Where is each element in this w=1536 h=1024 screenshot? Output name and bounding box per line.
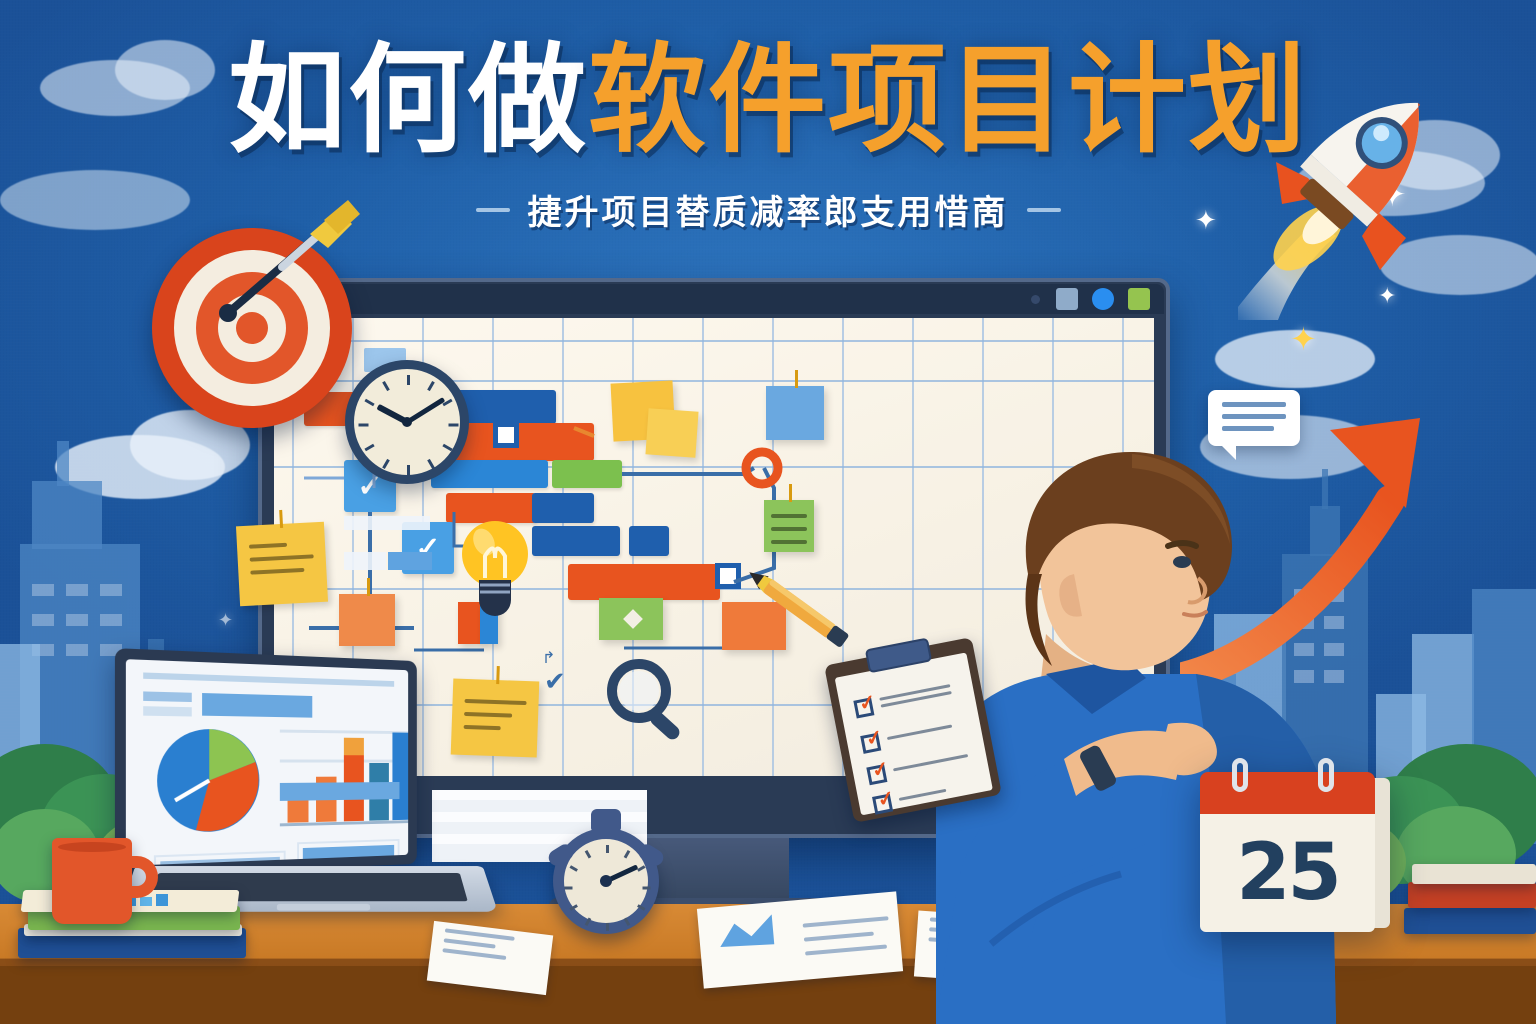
small-check-icon: ✔ — [544, 666, 566, 697]
check-mark-icon: ✓ — [857, 692, 877, 715]
book-right-red — [1408, 882, 1536, 908]
window-title-bar — [264, 284, 1164, 314]
calendar-icon: 25 — [1200, 758, 1390, 933]
check-mark-icon: ✓ — [864, 727, 884, 750]
pin-icon — [795, 370, 798, 388]
checkbox-icon[interactable]: ✓ — [853, 697, 874, 718]
sticky-note-orange[interactable] — [339, 594, 395, 646]
gantt-bar[interactable] — [532, 493, 594, 523]
checkbox-icon[interactable]: ✓ — [860, 733, 881, 754]
gantt-bar[interactable] — [552, 460, 622, 488]
lightbulb-icon — [455, 512, 535, 627]
checklist-item[interactable]: ✓ — [860, 719, 954, 754]
clipboard-paper: ✓ ✓ ✓ ✓ — [835, 652, 993, 815]
subtitle-dash-right — [1027, 208, 1061, 212]
coffee-mug-icon — [52, 838, 132, 924]
note-lines — [771, 514, 807, 553]
pin-icon — [496, 666, 500, 684]
small-arrow-icon: ↱ — [542, 648, 555, 668]
checklist-text — [899, 788, 947, 804]
magnifying-glass-icon[interactable] — [599, 653, 695, 749]
checkbox-icon[interactable]: ✓ — [866, 764, 887, 785]
checklist-item[interactable]: ✓ — [853, 682, 953, 718]
stopwatch-crown — [591, 809, 621, 831]
rocket-icon — [1238, 70, 1468, 320]
pin-icon — [367, 578, 370, 596]
title-orange-part: 软件项目计划 — [588, 31, 1308, 169]
sticky-note-yellow[interactable] — [236, 522, 328, 606]
sticky-note-orange[interactable] — [722, 602, 786, 650]
sticky-note-yellow[interactable] — [645, 408, 698, 457]
sticky-note-green[interactable] — [764, 500, 814, 552]
calendar-body: 25 — [1200, 814, 1375, 932]
dim-dot-icon — [1031, 295, 1040, 304]
ui-bar-decoration — [344, 516, 430, 530]
calendar-header — [1200, 772, 1375, 816]
laptop-dashboard-screen[interactable] — [126, 659, 408, 866]
title-white-part: 如何做 — [228, 31, 588, 169]
calendar-ring-icon — [1318, 758, 1334, 792]
note-lines — [249, 542, 314, 584]
checklist-text — [879, 684, 952, 711]
target-dartboard-icon — [152, 228, 352, 428]
monitor-stand — [639, 838, 789, 904]
check-mark-icon: ✓ — [876, 788, 896, 811]
sparkle-icon: ✦ — [218, 610, 233, 631]
check-mark-icon: ✓ — [870, 759, 890, 782]
checkbox-icon[interactable]: ✓ — [872, 794, 893, 815]
ui-bar-decoration — [344, 552, 386, 570]
checklist-text — [893, 754, 969, 775]
calendar-ring-icon — [1232, 758, 1248, 792]
sparkle-icon: ✦ — [1195, 205, 1217, 236]
blue-circle-icon[interactable] — [1092, 288, 1114, 310]
gantt-milestone[interactable] — [715, 563, 741, 589]
pie-chart — [154, 725, 262, 836]
book-right-blue — [1404, 908, 1536, 934]
gantt-milestone[interactable] — [493, 422, 519, 448]
green-square-icon[interactable] — [1128, 288, 1150, 310]
bar-chart — [280, 719, 408, 835]
laptop-lid — [115, 648, 417, 877]
clipboard-checklist[interactable]: ✓ ✓ ✓ ✓ — [824, 637, 1002, 823]
banner-illustration: 如何做软件项目计划 捷升项目替质减率郎支用惜啇 — [0, 0, 1536, 1024]
subtitle-dash-left — [476, 208, 510, 212]
checklist-item[interactable]: ✓ — [866, 748, 970, 785]
calendar-day-number: 25 — [1236, 828, 1339, 918]
gray-square-icon[interactable] — [1056, 288, 1078, 310]
gantt-bar[interactable] — [629, 526, 669, 556]
laptop-trackpad[interactable] — [277, 904, 371, 911]
book-right-white — [1412, 864, 1536, 884]
gantt-bar[interactable] — [568, 564, 720, 600]
stopwatch-icon — [553, 828, 659, 934]
sticky-note-blue[interactable] — [766, 386, 824, 440]
ui-bar-decoration — [388, 552, 432, 570]
page-subtitle: 捷升项目替质减率郎支用惜啇 — [528, 185, 1009, 234]
sparkle-icon: ✦ — [1290, 320, 1317, 358]
checklist-text — [887, 724, 953, 743]
gantt-bar[interactable] — [532, 526, 620, 556]
pin-icon — [789, 484, 792, 502]
